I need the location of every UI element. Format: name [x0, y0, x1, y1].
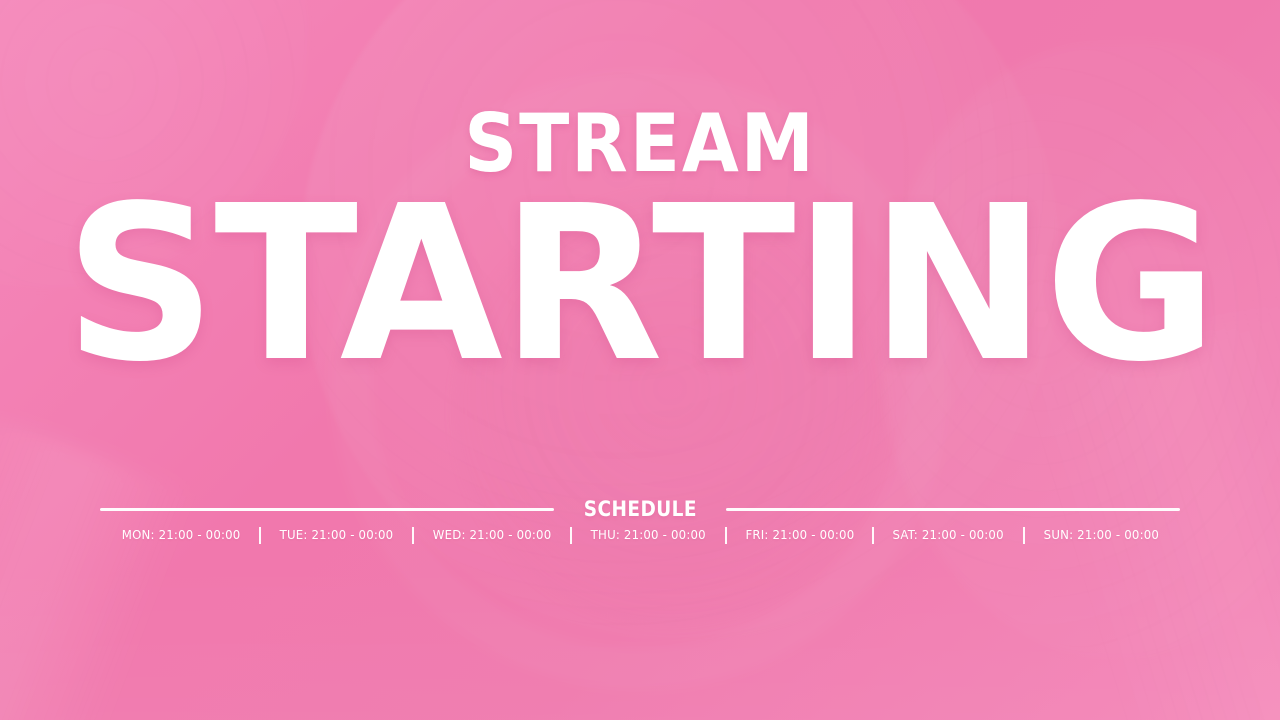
schedule-day-item: SUN: 21:00 - 00:00 [1029, 525, 1173, 545]
schedule-day-item: WED: 21:00 - 00:00 [419, 525, 566, 545]
schedule-rule-left [100, 508, 554, 511]
stream-starting-overlay: STREAM STARTING SCHEDULE MON: 21:00 - 00… [0, 0, 1280, 720]
schedule-label: SCHEDULE [582, 499, 699, 520]
schedule-day-item: TUE: 21:00 - 00:00 [265, 525, 407, 545]
schedule-header: SCHEDULE [100, 498, 1180, 520]
schedule-separator [872, 527, 874, 544]
schedule-separator [725, 527, 727, 544]
schedule-separator [1023, 527, 1025, 544]
schedule-day-item: FRI: 21:00 - 00:00 [731, 525, 868, 545]
schedule-separator [259, 527, 261, 544]
schedule-separator [412, 527, 414, 544]
title-line-starting: STARTING [10, 178, 1271, 392]
schedule-day-item: MON: 21:00 - 00:00 [107, 525, 254, 545]
schedule-day-item: SAT: 21:00 - 00:00 [879, 525, 1018, 545]
schedule-day-item: THU: 21:00 - 00:00 [577, 525, 720, 545]
schedule-rule-right [726, 508, 1180, 511]
background-light-band-left-icon [0, 401, 195, 720]
background-bottom-sheen-icon [0, 560, 1280, 720]
schedule-day-list: MON: 21:00 - 00:00TUE: 21:00 - 00:00WED:… [0, 525, 1280, 545]
schedule-separator [570, 527, 572, 544]
